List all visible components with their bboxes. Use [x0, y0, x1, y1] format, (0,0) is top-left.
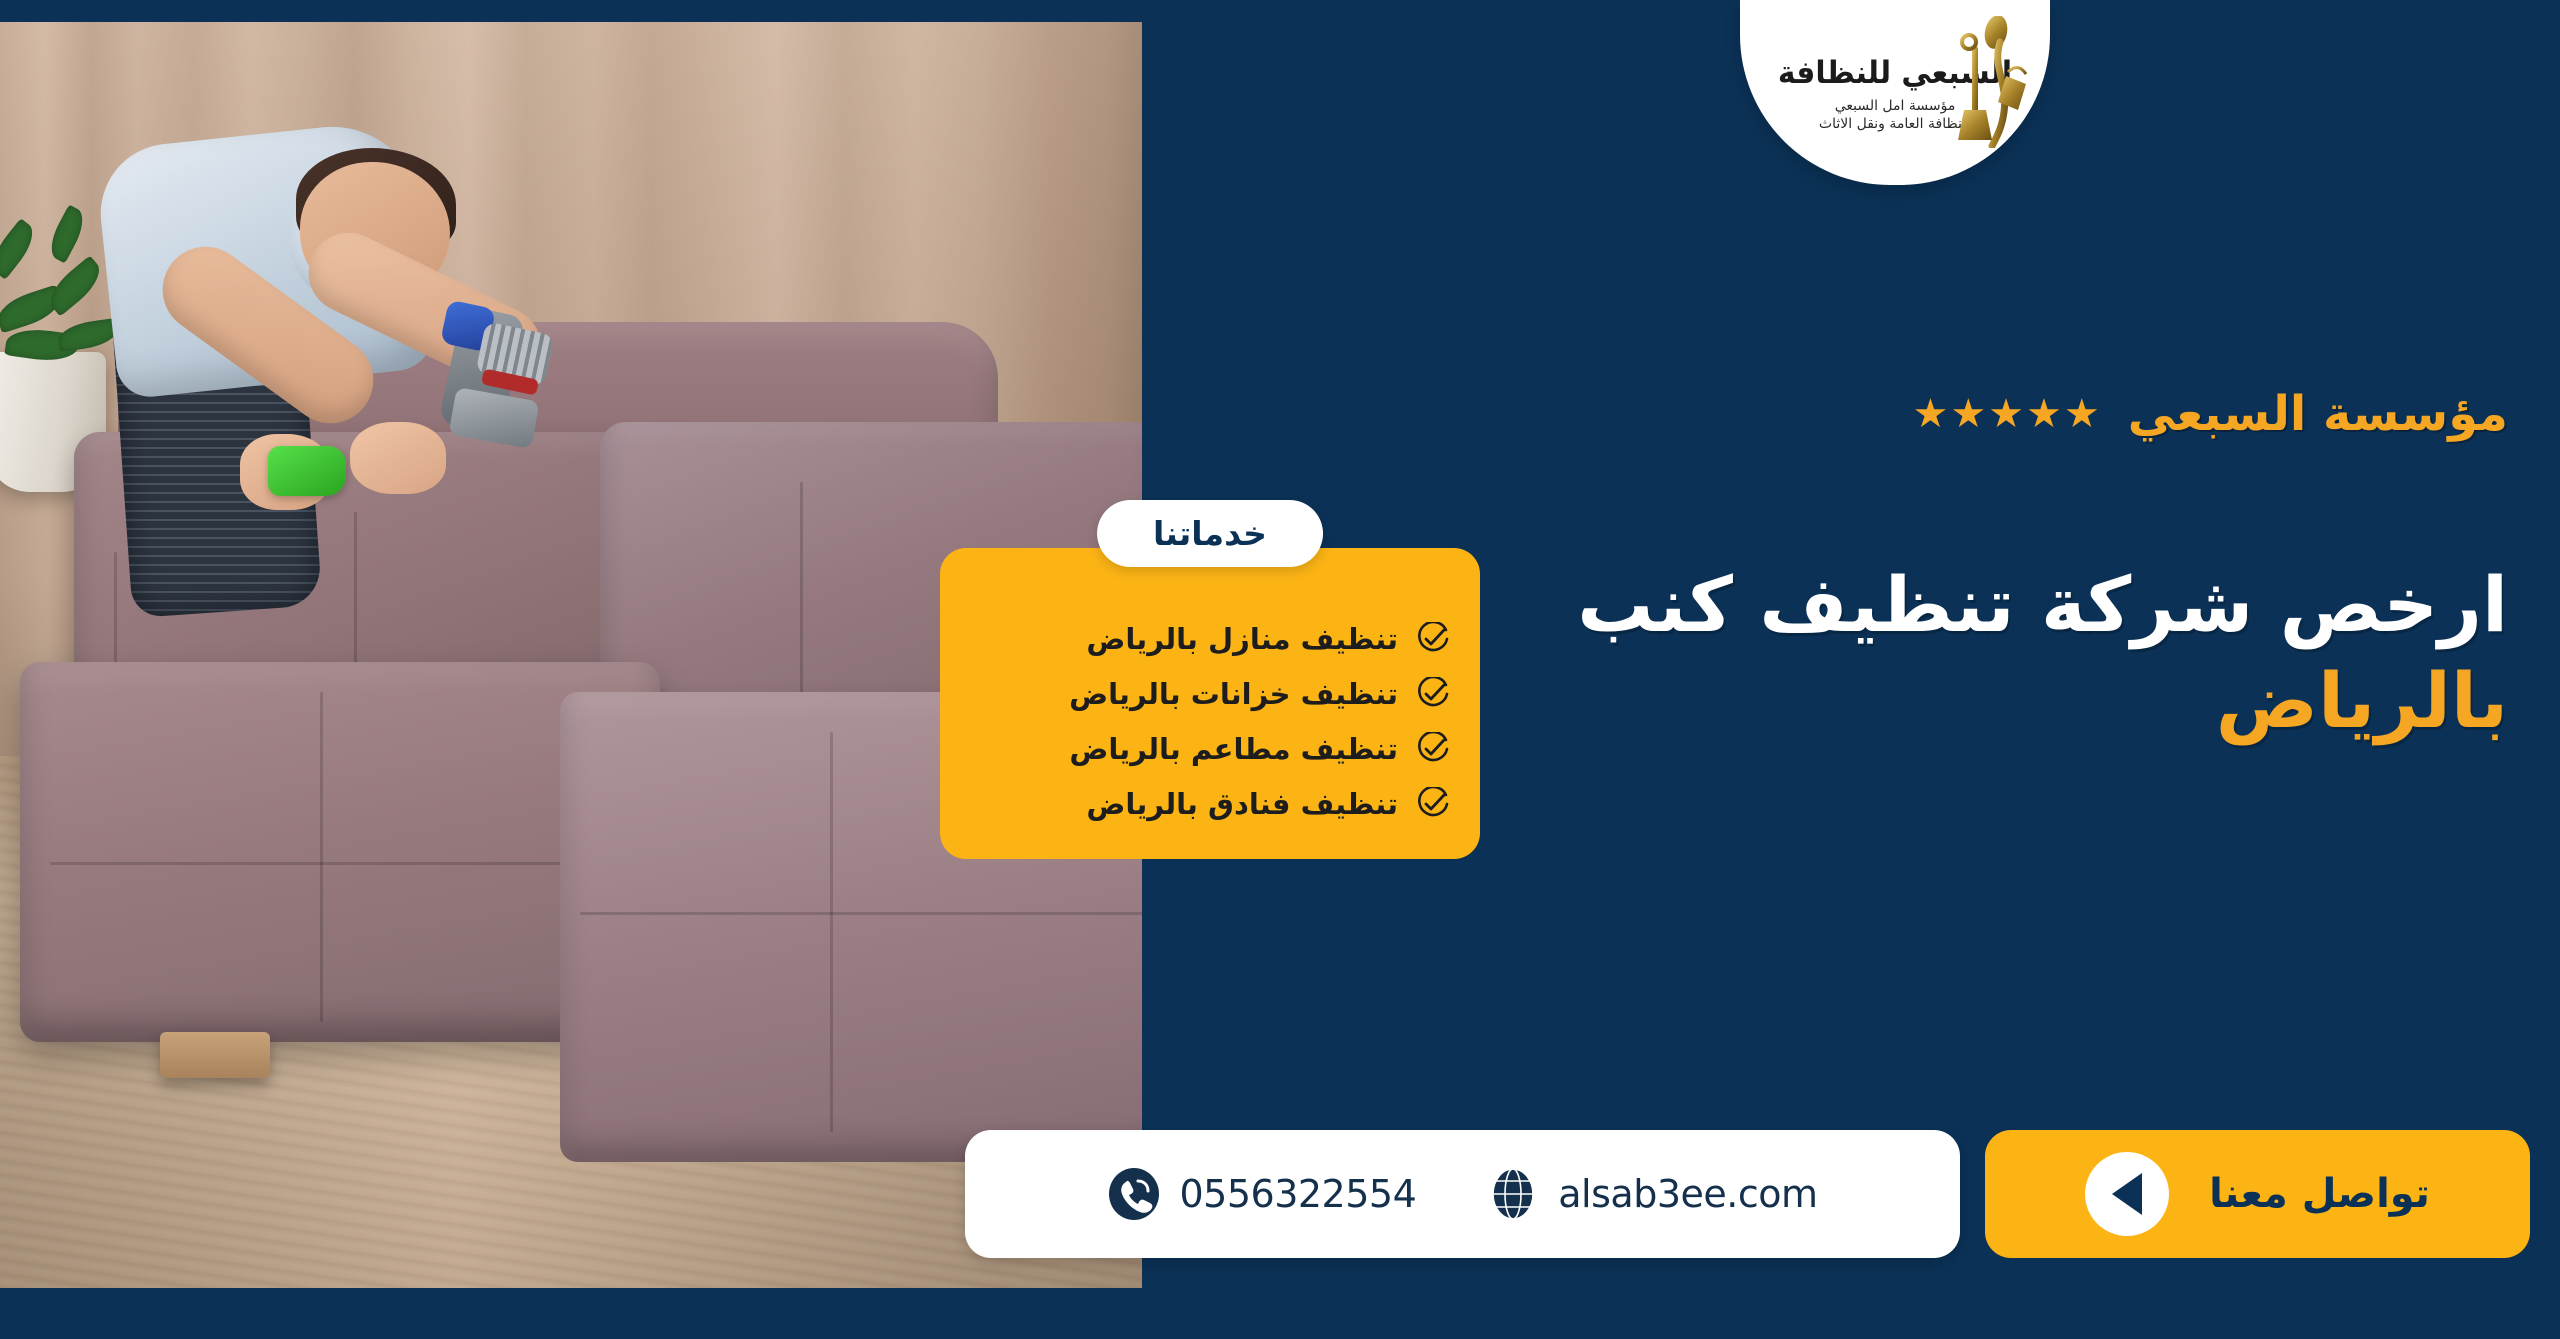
headline-line-2: بالرياض — [1428, 656, 2508, 746]
promo-banner: السبعي للنظافة مؤسسة امل السبعي للنظافة … — [0, 0, 2560, 1339]
green-cleaning-cloth — [268, 446, 346, 496]
brand-name: مؤسسة السبعي — [2128, 390, 2508, 438]
check-circle-icon — [1416, 787, 1450, 821]
website-contact[interactable]: alsab3ee.com — [1486, 1167, 1817, 1221]
contact-card: 0556322554 alsab3ee.com — [965, 1130, 1960, 1258]
services-title: خدماتنا — [1153, 514, 1267, 553]
brand-rating-line: مؤسسة السبعي ★★★★★ — [1912, 390, 2508, 438]
sofa-leg — [160, 1032, 270, 1078]
service-item-label: تنظيف خزانات بالرياض — [1069, 680, 1398, 709]
service-item[interactable]: تنظيف فنادق بالرياض — [970, 787, 1450, 821]
services-title-pill: خدماتنا — [1097, 500, 1323, 567]
check-circle-icon — [1416, 677, 1450, 711]
phone-number: 0556322554 — [1179, 1172, 1416, 1216]
headline: ارخص شركة تنظيف كنب بالرياض — [1428, 560, 2508, 745]
service-item-label: تنظيف منازل بالرياض — [1086, 625, 1398, 654]
service-item[interactable]: تنظيف منازل بالرياض — [970, 622, 1450, 656]
service-item[interactable]: تنظيف مطاعم بالرياض — [970, 732, 1450, 766]
star-rating: ★★★★★ — [1912, 394, 2101, 434]
contact-us-button[interactable]: تواصل معنا — [1985, 1130, 2530, 1258]
phone-icon — [1107, 1167, 1161, 1221]
phone-contact[interactable]: 0556322554 — [1107, 1167, 1416, 1221]
top-accent-strip — [0, 0, 2560, 22]
service-item-label: تنظيف مطاعم بالرياض — [1069, 735, 1398, 764]
logo-subtitle-line1: مؤسسة امل السبعي — [1835, 98, 1956, 116]
headline-line-1: ارخص شركة تنظيف كنب — [1428, 560, 2508, 650]
cta-label: تواصل معنا — [2209, 1171, 2430, 1217]
logo-subtitle-line2: للنظافة العامة ونقل الاثاث — [1819, 116, 1971, 134]
broom-and-dustpan-icon — [1952, 16, 2030, 148]
services-list: تنظيف منازل بالرياض تنظيف خزانات بالرياض… — [940, 548, 1480, 859]
bottom-accent-strip — [0, 1288, 2560, 1339]
service-item-label: تنظيف فنادق بالرياض — [1086, 790, 1398, 819]
globe-icon — [1486, 1167, 1540, 1221]
arrow-left-icon — [2085, 1152, 2169, 1236]
worker-hand-right — [350, 422, 446, 494]
check-circle-icon — [1416, 732, 1450, 766]
company-logo-badge: السبعي للنظافة مؤسسة امل السبعي للنظافة … — [1740, 0, 2050, 185]
check-circle-icon — [1416, 622, 1450, 656]
website-url: alsab3ee.com — [1558, 1172, 1817, 1216]
service-item[interactable]: تنظيف خزانات بالرياض — [970, 677, 1450, 711]
